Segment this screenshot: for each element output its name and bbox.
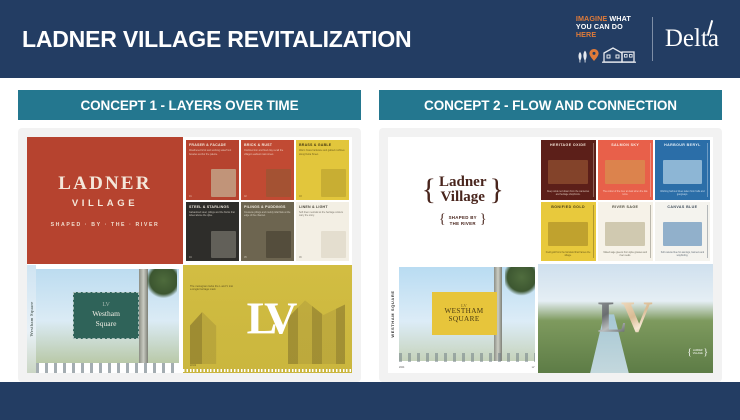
swatch-image xyxy=(663,222,703,246)
wordmark-tagline-row: { SHAPED BY THE RIVER } xyxy=(439,215,487,227)
monogram-mark: L V xyxy=(598,299,653,334)
swatch-name: FRASER & FACADE xyxy=(189,143,236,147)
swatch-rule xyxy=(593,143,594,197)
concept-1-heading: CONCEPT 1 - LAYERS OVER TIME xyxy=(18,90,361,120)
swatch-description: Creosote pilings and muddy tidal flats a… xyxy=(244,211,291,217)
streetscape-strip xyxy=(399,353,535,362)
tagline-line3: HERE xyxy=(576,31,631,39)
brace-left: { xyxy=(422,178,436,201)
concept-2-swatch-grid: HERITAGE OXIDE Deep oxide red drawn from… xyxy=(538,137,714,264)
monogram-note: The monogram locks the L and V into a si… xyxy=(190,285,234,292)
swatch-name: STEEL & STARLINGS xyxy=(189,205,236,209)
signage-side-label: WESTHAM SQUARE xyxy=(390,291,395,338)
concept-2-upper-row: { Ladner Village } { SHAPED BY xyxy=(388,137,713,264)
swatch-rule xyxy=(650,143,651,197)
swatch-image xyxy=(548,160,588,184)
wordmark-brace-row: { Ladner Village } xyxy=(422,175,504,205)
swatch-image xyxy=(321,169,346,196)
tagline-brace-left: { xyxy=(439,215,446,226)
sign-banner: LV WESTHAM SQUARE xyxy=(432,292,497,335)
concept-1-swatch-grid: FRASER & FACADE Weathered brick and work… xyxy=(183,137,352,264)
streetscape-strip xyxy=(36,363,179,373)
swatch-description: Weathered brick and working waterfront f… xyxy=(189,149,236,155)
concept-1-body[interactable]: LADNER VILLAGE SHAPED · BY · THE · RIVER… xyxy=(18,128,361,382)
swatch-description: Deep oxide red drawn from the canneries … xyxy=(545,191,591,197)
swatch-image xyxy=(605,222,645,246)
concept-panels: CONCEPT 1 - LAYERS OVER TIME LADNER VILL… xyxy=(0,78,740,382)
swatch-code: 05 xyxy=(244,256,247,259)
swatch-description: Muted sage greens from dyke grasses and … xyxy=(602,252,648,258)
monogram-letter-v: V xyxy=(621,299,653,334)
swatch-image xyxy=(321,231,346,258)
tagline-line-1: SHAPED BY xyxy=(449,215,477,221)
signage-footer: 2024 LV xyxy=(399,366,535,369)
swatch-description: The colour of the river at dusk when the… xyxy=(602,191,648,197)
swatch-image xyxy=(266,231,291,258)
swatch-card[interactable]: PILINGS & PUDDINGS Creosote pilings and … xyxy=(241,202,294,262)
concept-1-wordmark-tile: LADNER VILLAGE SHAPED · BY · THE · RIVER xyxy=(27,137,183,264)
wordmark-village: VILLAGE xyxy=(72,198,138,209)
swatch-code: 06 xyxy=(299,256,302,259)
imagine-logo: IMAGINE WHAT YOU CAN DO HERE xyxy=(576,15,638,63)
concept-1-signage-mockup[interactable]: Westham Square LV Westham Square xyxy=(27,265,183,373)
brace-right: } xyxy=(704,349,708,356)
tagline-brace-right: } xyxy=(480,215,487,226)
concept-2-body[interactable]: { Ladner Village } { SHAPED BY xyxy=(379,128,722,382)
tree-foliage xyxy=(147,269,177,299)
concept-2-lower-row: WESTHAM SQUARE LV WESTHAM SQUARE xyxy=(388,264,713,373)
tree-foliage xyxy=(505,267,535,297)
swatch-code: 03 xyxy=(299,195,302,198)
swatch-image xyxy=(266,169,291,196)
village-illustration-icon xyxy=(576,41,638,63)
signage-foot-left: 2024 xyxy=(399,366,404,369)
delta-wordmark: Delta xyxy=(665,25,719,52)
monogram-label-line-2: VILLAGE xyxy=(693,352,703,355)
imagine-tagline: IMAGINE WHAT YOU CAN DO HERE xyxy=(576,15,631,39)
banner-line-2: SQUARE xyxy=(448,316,479,324)
signage-side-label: Westham Square xyxy=(29,302,34,337)
swatch-card[interactable]: CANVAS BLUE Soft canvas blue for awnings… xyxy=(655,202,710,262)
wordmark-tagline: SHAPED · BY · THE · RIVER xyxy=(51,222,160,228)
swatch-description: Working harbour blues taken from hulls a… xyxy=(659,191,705,197)
swatch-card[interactable]: STEEL & STARLINGS Galvanized steel, pili… xyxy=(186,202,239,262)
swatch-code: 02 xyxy=(244,195,247,198)
tagline-line-2: THE RIVER xyxy=(449,221,477,227)
swatch-name: HERITAGE OXIDE xyxy=(544,143,593,148)
swatch-description: Galvanized steel, pilings and the flocks… xyxy=(189,211,236,217)
signage-photo: LV Westham Square xyxy=(36,269,179,363)
tagline-words: SHAPED BY THE RIVER xyxy=(449,215,477,227)
brand-bar: IMAGINE WHAT YOU CAN DO HERE xyxy=(576,13,722,65)
swatch-code: 01 xyxy=(189,195,192,198)
concept-1-lower-row: Westham Square LV Westham Square xyxy=(27,264,352,373)
swatch-name: RIVER SAGE xyxy=(601,205,650,210)
swatch-description: Warm brass hardware and gabled rooflines… xyxy=(299,149,346,155)
swatch-card[interactable]: HERITAGE OXIDE Deep oxide red drawn from… xyxy=(541,140,596,200)
swatch-name: HARBOUR BERYL xyxy=(658,143,707,148)
swatch-image xyxy=(548,222,588,246)
swatch-name: BONIFIED GOLD xyxy=(544,205,593,210)
swatch-image xyxy=(211,231,236,258)
wordmark-village: Village xyxy=(439,190,487,205)
banner-line-1: Westham xyxy=(92,310,120,318)
slide-footer xyxy=(0,382,740,420)
concept-1: CONCEPT 1 - LAYERS OVER TIME LADNER VILL… xyxy=(18,90,361,382)
swatch-card[interactable]: SALMON SKY The colour of the river at du… xyxy=(598,140,653,200)
monogram-code: LV-01 xyxy=(190,364,196,367)
brace-right: } xyxy=(490,178,504,201)
swatch-name: PILINGS & PUDDINGS xyxy=(244,205,291,209)
delta-logo: Delta xyxy=(665,25,722,53)
monogram-brace-label: { LADNER VILLAGE } xyxy=(687,349,708,356)
swatch-name: BRASS & GABLE xyxy=(299,143,346,147)
wordmark-ladner: Ladner xyxy=(439,175,487,190)
swatch-card[interactable]: FRASER & FACADE Weathered brick and work… xyxy=(186,140,239,200)
wordmark-words: Ladner Village xyxy=(439,175,487,205)
concept-1-board: LADNER VILLAGE SHAPED · BY · THE · RIVER… xyxy=(27,137,352,373)
swatch-card[interactable]: LINEN & LIGHT Soft linen neutrals let th… xyxy=(296,202,349,262)
swatch-description: Oxidized iron and fired clay recall the … xyxy=(244,149,291,155)
concept-2-signage-mockup[interactable]: WESTHAM SQUARE LV WESTHAM SQUARE xyxy=(388,264,538,373)
swatch-name: CANVAS BLUE xyxy=(658,205,707,210)
sign-banner: LV Westham Square xyxy=(73,292,139,339)
swatch-description: Soft canvas blue for awnings, banners an… xyxy=(659,252,705,258)
swatch-name: SALMON SKY xyxy=(601,143,650,148)
swatch-description: Soft linen neutrals let the heritage col… xyxy=(299,211,346,217)
perforation-edge xyxy=(183,369,352,372)
concept-1-upper-row: LADNER VILLAGE SHAPED · BY · THE · RIVER… xyxy=(27,137,352,264)
concept-1-monogram-mockup[interactable]: The monogram locks the L and V into a si… xyxy=(183,265,352,373)
brace-left: { xyxy=(687,349,691,356)
swatch-name: BRICK & RUST xyxy=(244,143,291,147)
concept-2: CONCEPT 2 - FLOW AND CONNECTION { Ladner… xyxy=(379,90,722,382)
swatch-card[interactable]: BRASS & GABLE Warm brass hardware and ga… xyxy=(296,140,349,200)
swatch-image xyxy=(663,160,703,184)
swatch-rule xyxy=(707,143,708,197)
signage-foot-right: LV xyxy=(532,366,535,369)
swatch-card[interactable]: RIVER SAGE Muted sage greens from dyke g… xyxy=(598,202,653,262)
monogram-label: LADNER VILLAGE xyxy=(693,349,703,355)
swatch-image xyxy=(211,169,236,196)
banner-monogram: LV xyxy=(461,303,467,308)
slide-header: LADNER VILLAGE REVITALIZATION IMAGINE WH… xyxy=(0,0,740,78)
swatch-card[interactable]: HARBOUR BERYL Working harbour blues take… xyxy=(655,140,710,200)
monogram-mark: LV xyxy=(247,301,289,338)
swatch-image xyxy=(605,160,645,184)
swatch-rule xyxy=(650,205,651,259)
page-title: LADNER VILLAGE REVITALIZATION xyxy=(22,26,411,53)
swatch-rule xyxy=(593,205,594,259)
concept-2-board: { Ladner Village } { SHAPED BY xyxy=(388,137,713,373)
swatch-code: 04 xyxy=(189,256,192,259)
banner-line-2: Square xyxy=(96,320,117,328)
banner-monogram: LV xyxy=(102,302,109,308)
wordmark-ladner: LADNER xyxy=(58,173,151,195)
swatch-name: LINEN & LIGHT xyxy=(299,205,346,209)
concept-2-wordmark-tile: { Ladner Village } { SHAPED BY xyxy=(388,137,538,264)
swatch-rule xyxy=(707,205,708,259)
swatch-card[interactable]: BRICK & RUST Oxidized iron and fired cla… xyxy=(241,140,294,200)
concept-2-monogram-mockup[interactable]: L V { LADNER VILLAGE } xyxy=(538,264,714,373)
brand-divider xyxy=(652,17,653,61)
concept-2-heading: CONCEPT 2 - FLOW AND CONNECTION xyxy=(379,90,722,120)
slide: LADNER VILLAGE REVITALIZATION IMAGINE WH… xyxy=(0,0,740,420)
signage-photo: LV WESTHAM SQUARE xyxy=(399,267,535,361)
swatch-description: Field gold from the farmland that frames… xyxy=(545,252,591,258)
swatch-card[interactable]: BONIFIED GOLD Field gold from the farmla… xyxy=(541,202,596,262)
